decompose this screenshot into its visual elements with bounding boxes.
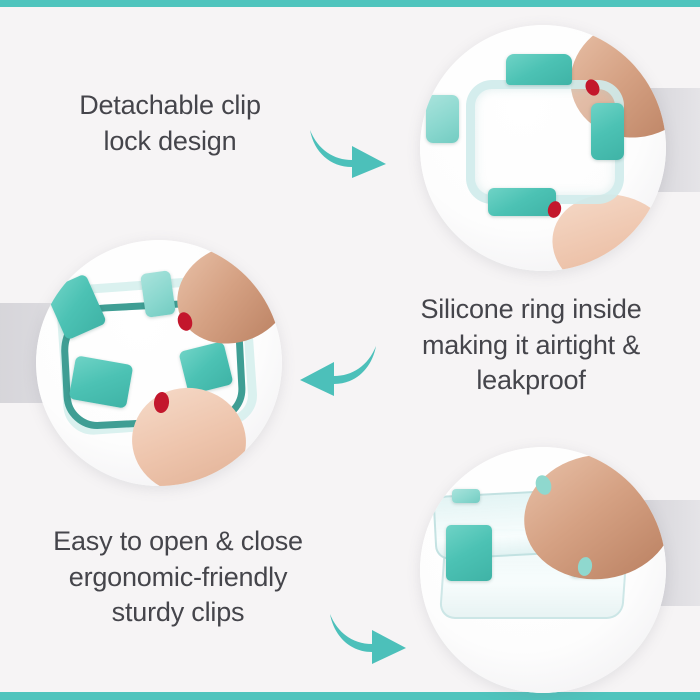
arrow-right-icon-2 [328, 610, 408, 664]
caption-silicone-ring: Silicone ring inside making it airtight … [372, 292, 690, 399]
bottom-accent-bar [0, 692, 700, 700]
caption-sturdy-clips: Easy to open & close ergonomic-friendly … [12, 524, 344, 631]
clip-right [591, 103, 624, 160]
photo-backdrop [36, 240, 282, 486]
clip-detached [488, 188, 556, 216]
photo-silicone-ring [36, 240, 282, 486]
arrow-left-icon [298, 342, 378, 396]
clip-left [426, 95, 459, 143]
clip-top [506, 54, 572, 85]
clip-left [446, 525, 492, 581]
photo-detachable-clip-lock [420, 25, 666, 271]
photo-backdrop [420, 25, 666, 271]
caption-detachable-clip-lock: Detachable clip lock design [20, 88, 320, 159]
clip-tab-rear [452, 489, 480, 503]
photo-sturdy-clips [420, 447, 666, 693]
top-accent-bar [0, 0, 700, 7]
arrow-right-icon-1 [308, 126, 388, 178]
clip-top-right [140, 270, 176, 318]
photo-backdrop [420, 447, 666, 693]
feature-infographic: Detachable clip lock design Silicone rin… [0, 0, 700, 700]
